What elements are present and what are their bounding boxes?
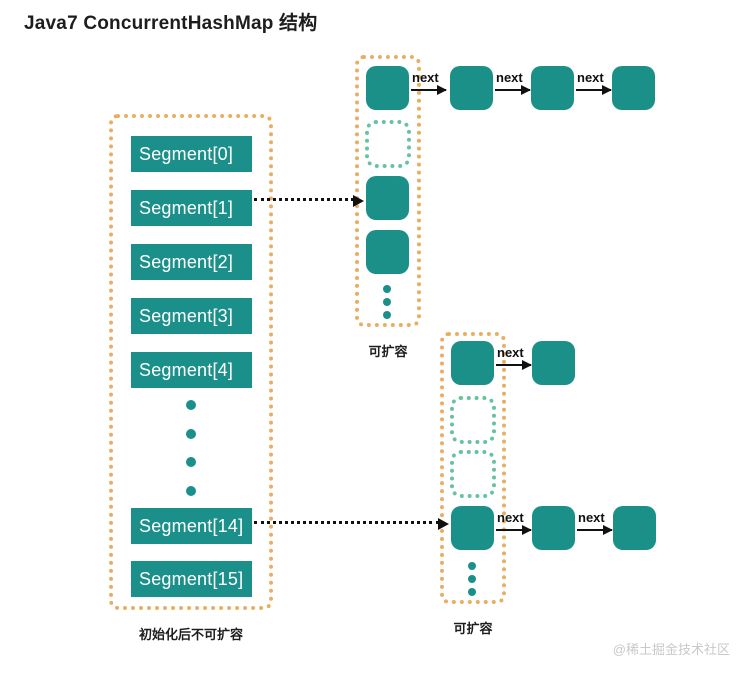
upper-chain-0-node-2[interactable] bbox=[450, 66, 493, 110]
upper-chain-0-node-4[interactable] bbox=[612, 66, 655, 110]
upper-slot-2-node[interactable] bbox=[366, 176, 409, 220]
lower-chain-0-arrow-1 bbox=[496, 364, 531, 366]
upper-chain-0-next-label-3: next bbox=[577, 70, 604, 85]
upper-slot-1-empty bbox=[365, 120, 411, 168]
segment-item-4[interactable]: Segment[4] bbox=[131, 352, 252, 388]
watermark: @稀土掘金技术社区 bbox=[613, 639, 730, 658]
upper-slot-0-node[interactable] bbox=[366, 66, 409, 110]
segment-item-14[interactable]: Segment[14] bbox=[131, 508, 252, 544]
lower-chain-3-arrow-2 bbox=[577, 529, 612, 531]
upper-table-caption: 可扩容 bbox=[355, 341, 421, 360]
lower-chain-0-node-2[interactable] bbox=[532, 341, 575, 385]
upper-chain-0-next-label-1: next bbox=[412, 70, 439, 85]
segment-item-15[interactable]: Segment[15] bbox=[131, 561, 252, 597]
upper-slot-3-node[interactable] bbox=[366, 230, 409, 274]
upper-chain-0-node-3[interactable] bbox=[531, 66, 574, 110]
segment-1-to-upper-table-arrow bbox=[254, 198, 354, 201]
diagram-canvas: Java7 ConcurrentHashMap 结构 Segment[0] Se… bbox=[0, 0, 748, 675]
upper-chain-0-next-label-2: next bbox=[496, 70, 523, 85]
lower-chain-3-next-label-1: next bbox=[497, 510, 524, 525]
lower-slot-2-empty bbox=[450, 450, 496, 498]
segment-item-1[interactable]: Segment[1] bbox=[131, 190, 252, 226]
upper-table-ellipsis bbox=[383, 285, 391, 319]
lower-table-caption: 可扩容 bbox=[440, 618, 506, 637]
lower-table-ellipsis bbox=[468, 562, 476, 596]
segment-array-caption: 初始化后不可扩容 bbox=[109, 624, 273, 643]
lower-chain-3-node-3[interactable] bbox=[613, 506, 656, 550]
segment-item-3[interactable]: Segment[3] bbox=[131, 298, 252, 334]
segment-14-to-lower-table-arrow bbox=[254, 521, 439, 524]
upper-chain-0-arrow-3 bbox=[576, 89, 611, 91]
lower-chain-0-next-label-1: next bbox=[497, 345, 524, 360]
segment-item-0[interactable]: Segment[0] bbox=[131, 136, 252, 172]
lower-chain-3-node-2[interactable] bbox=[532, 506, 575, 550]
segment-item-2[interactable]: Segment[2] bbox=[131, 244, 252, 280]
segment-array-ellipsis bbox=[186, 400, 196, 496]
page-title: Java7 ConcurrentHashMap 结构 bbox=[24, 8, 317, 35]
upper-chain-0-arrow-1 bbox=[411, 89, 446, 91]
lower-slot-1-empty bbox=[450, 396, 496, 444]
upper-chain-0-arrow-2 bbox=[495, 89, 530, 91]
lower-chain-3-next-label-2: next bbox=[578, 510, 605, 525]
lower-slot-0-node[interactable] bbox=[451, 341, 494, 385]
lower-slot-3-node[interactable] bbox=[451, 506, 494, 550]
lower-chain-3-arrow-1 bbox=[496, 529, 531, 531]
